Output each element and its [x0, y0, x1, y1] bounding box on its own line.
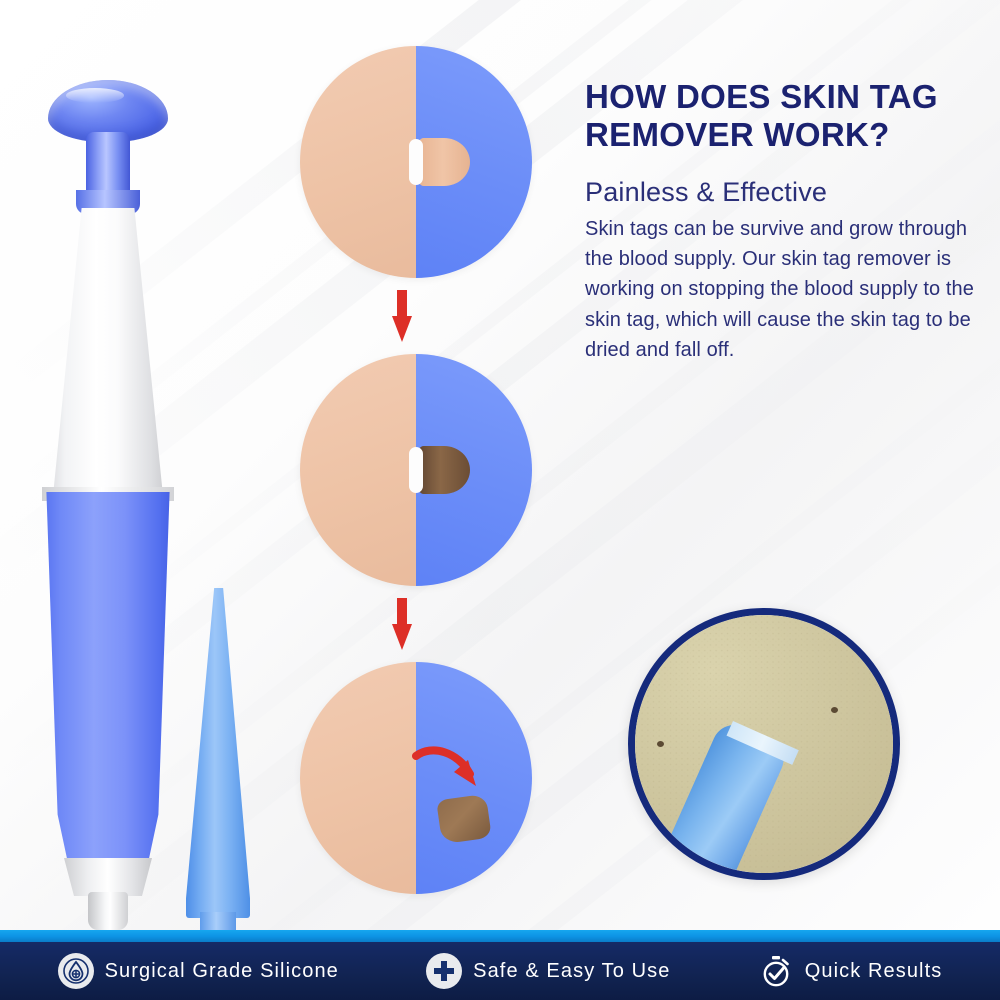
- step-3-circle: [300, 662, 532, 894]
- stopwatch-check-icon: [758, 953, 794, 989]
- copy-block: HOW DOES SKIN TAG REMOVER WORK? Painless…: [585, 78, 985, 365]
- diagram-step-1: [300, 46, 532, 278]
- water-drop-plus-icon: [58, 953, 94, 989]
- arrow-head: [392, 624, 412, 650]
- step-1-circle: [300, 46, 532, 278]
- device-upper-body: [48, 208, 168, 498]
- feature-bar: Surgical Grade Silicone Safe & Easy To U…: [0, 942, 1000, 1000]
- skin-half: [300, 662, 416, 894]
- feature-label: Safe & Easy To Use: [473, 960, 670, 983]
- medical-cross-icon: [426, 953, 462, 989]
- skin-tag-neck: [409, 139, 423, 185]
- curved-arrow-icon: [412, 742, 484, 798]
- feature-surgical-grade-silicone: Surgical Grade Silicone: [58, 953, 339, 989]
- feature-label: Quick Results: [805, 960, 943, 983]
- arrow-down-icon-2: [392, 598, 412, 650]
- feature-quick-results: Quick Results: [758, 953, 943, 989]
- usage-photo: [628, 608, 900, 880]
- diagram-step-2: [300, 354, 532, 586]
- feature-safe-easy-to-use: Safe & Easy To Use: [426, 953, 670, 989]
- skin-mole: [831, 707, 838, 713]
- device-grip-body: [38, 492, 178, 867]
- arrow-down-icon-1: [392, 290, 412, 342]
- skin-tag-fallen-off: [436, 793, 492, 844]
- skin-tag-live: [416, 138, 470, 186]
- body-text: Skin tags can be survive and grow throug…: [585, 214, 985, 366]
- skin-half: [300, 354, 416, 586]
- skin-mole: [657, 741, 664, 747]
- product-illustration: [0, 40, 300, 920]
- step-2-circle: [300, 354, 532, 586]
- arrow-head: [392, 316, 412, 342]
- device-base-cap: [58, 858, 158, 896]
- skin-half: [300, 46, 416, 278]
- skin-tag-neck: [409, 447, 423, 493]
- diagram-step-3: [300, 662, 532, 894]
- replacement-cone-tip: [186, 588, 250, 918]
- skin-tag-darkened: [416, 446, 470, 494]
- how-it-works-diagram: [300, 46, 540, 906]
- accent-strip: [0, 930, 1000, 942]
- device-nozzle: [88, 892, 128, 930]
- page-title: HOW DOES SKIN TAG REMOVER WORK?: [585, 78, 985, 155]
- subheading: Painless & Effective: [585, 177, 985, 208]
- feature-label: Surgical Grade Silicone: [105, 960, 339, 983]
